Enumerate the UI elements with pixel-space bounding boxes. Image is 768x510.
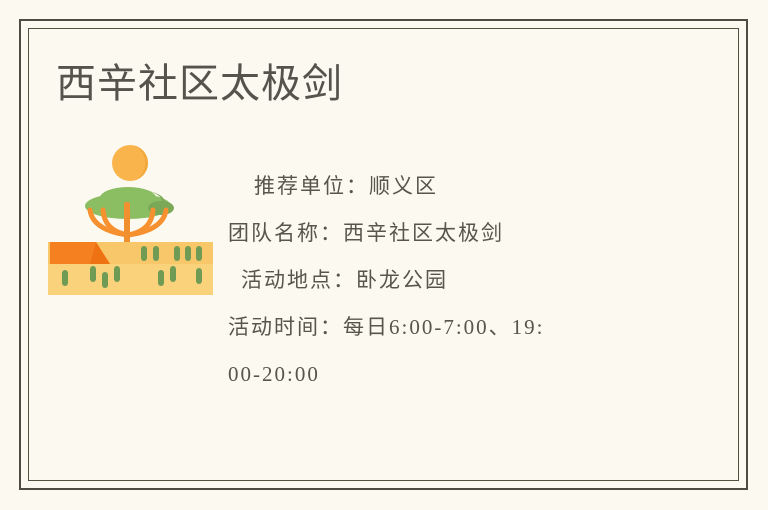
- park-tree-wall-illustration: [48, 140, 213, 295]
- detail-line-activity-time-continued: 00-20:00: [228, 351, 648, 398]
- detail-line-team-name: 团队名称：西辛社区太极剑: [228, 210, 648, 257]
- poster-card: 西辛社区太极剑: [0, 0, 768, 510]
- detail-line-activity-location: 活动地点：卧龙公园: [228, 257, 648, 304]
- detail-line-activity-time: 活动时间：每日6:00-7:00、19:: [228, 304, 648, 351]
- detail-line-recommending-unit: 推荐单位：顺义区: [228, 163, 648, 210]
- illustration-svg: [48, 140, 213, 295]
- page-title: 西辛社区太极剑: [56, 58, 343, 110]
- detail-text-block: 推荐单位：顺义区 团队名称：西辛社区太极剑 活动地点：卧龙公园 活动时间：每日6…: [228, 163, 648, 398]
